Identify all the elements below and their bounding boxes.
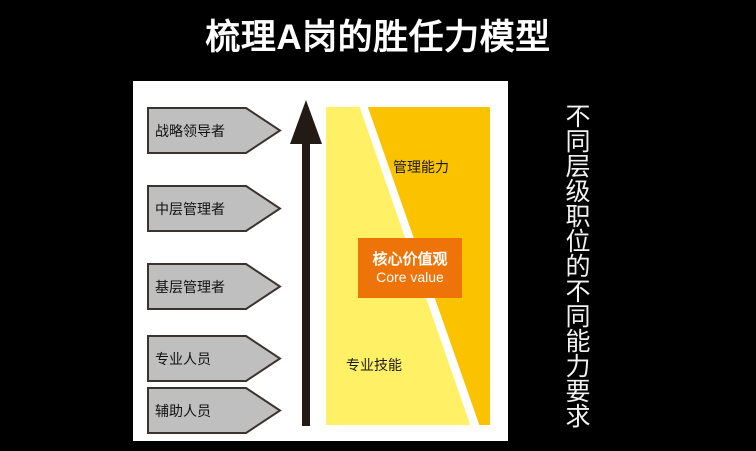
ladder-item-frontline-manager[interactable]: 基层管理者 (147, 263, 281, 310)
professional-skills-label: 专业技能 (346, 357, 402, 373)
slide-canvas: 梳理A岗的胜任力模型 战略领导者 中层管理者 (0, 0, 756, 451)
ladder-item-support-staff[interactable]: 辅助人员 (147, 387, 281, 434)
ladder-item-label: 基层管理者 (155, 263, 251, 310)
ladder-item-label: 专业人员 (155, 335, 251, 382)
core-value-english-label: Core value (376, 269, 444, 286)
diagram-panel: 战略领导者 中层管理者 基层管理者 (133, 81, 508, 441)
job-level-ladder: 战略领导者 中层管理者 基层管理者 (147, 81, 287, 441)
ladder-item-label: 中层管理者 (155, 185, 251, 232)
page-title: 梳理A岗的胜任力模型 (0, 16, 756, 60)
ladder-item-label: 战略领导者 (155, 107, 251, 154)
upward-arrow-icon (289, 100, 323, 426)
ladder-item-strategic-leader[interactable]: 战略领导者 (147, 107, 281, 154)
ladder-item-middle-manager[interactable]: 中层管理者 (147, 185, 281, 232)
ladder-item-professional-staff[interactable]: 专业人员 (147, 335, 281, 382)
side-caption: 不同层级职位的不同能力要求 (548, 100, 588, 430)
core-value-box[interactable]: 核心价值观 Core value (358, 238, 462, 298)
management-capability-label: 管理能力 (393, 159, 449, 175)
ladder-item-label: 辅助人员 (155, 387, 251, 434)
core-value-chinese-label: 核心价值观 (372, 251, 447, 269)
